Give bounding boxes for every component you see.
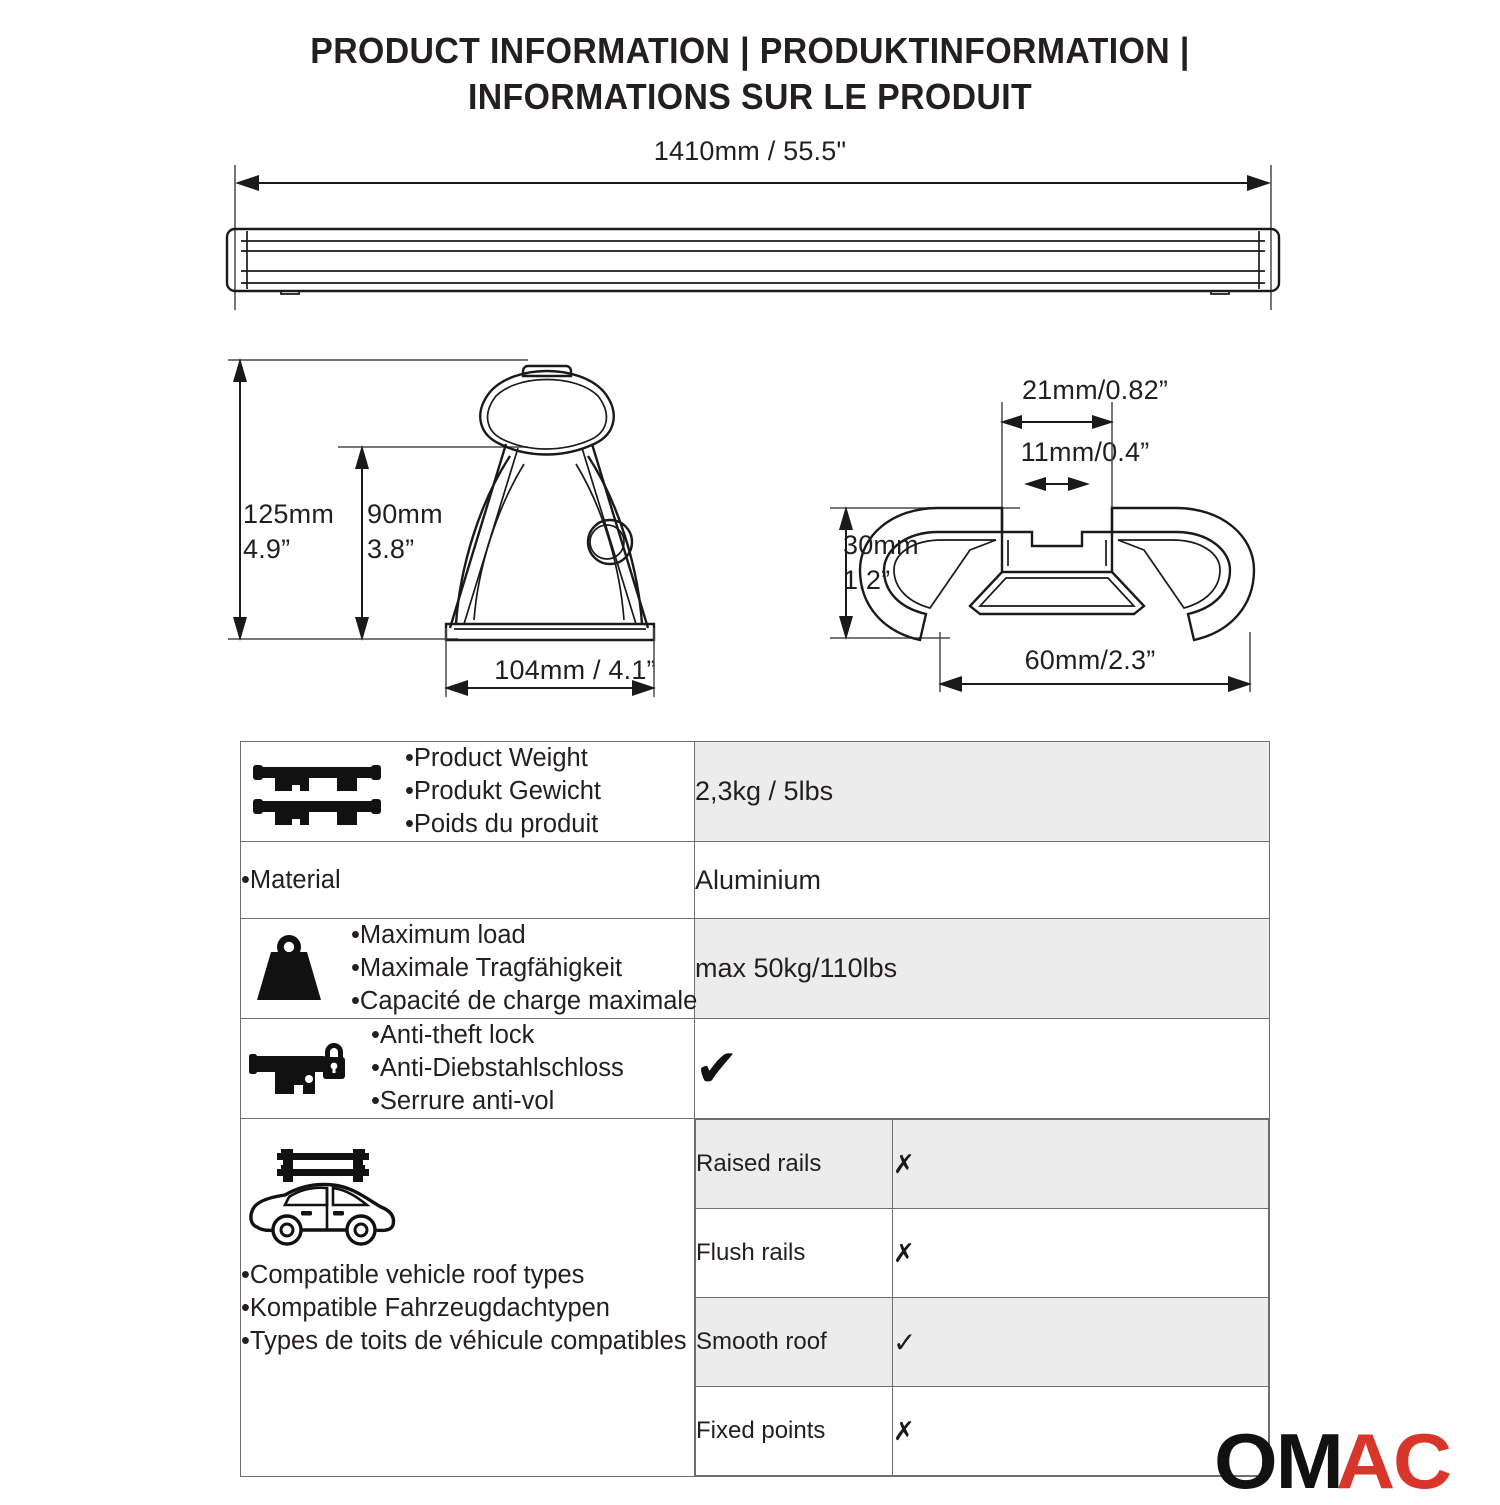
row-value-cell: ✔ — [695, 1019, 1270, 1119]
row-label-text: •Compatible vehicle roof types •Kompatib… — [241, 1259, 694, 1358]
label-line: •Capacité de charge maximale — [351, 985, 697, 1018]
page-title-line1: PRODUCT INFORMATION | PRODUKTINFORMATION… — [45, 28, 1455, 74]
table-row: •Material Aluminium — [241, 842, 1270, 919]
label-line: •Anti-theft lock — [371, 1019, 624, 1052]
table-row-roof-types: •Compatible vehicle roof types •Kompatib… — [241, 1119, 1270, 1477]
row-label-cell: •Maximum load •Maximale Tragfähigkeit •C… — [241, 919, 695, 1019]
top-view-length-text: 1410mm / 55.5" — [540, 136, 960, 167]
row-label-text: •Product Weight •Produkt Gewicht •Poids … — [405, 742, 601, 841]
roof-type-name: Smooth roof — [696, 1298, 893, 1387]
roof-type-row: Smooth roof ✓ — [696, 1298, 1269, 1387]
row-value-cell: 2,3kg / 5lbs — [695, 742, 1270, 842]
logo-text-black: OM — [1214, 1422, 1342, 1500]
table-row: •Maximum load •Maximale Tragfähigkeit •C… — [241, 919, 1270, 1019]
roof-type-name: Raised rails — [696, 1120, 893, 1209]
label-line: •Maximum load — [351, 919, 697, 952]
roof-type-row: Flush rails ✗ — [696, 1209, 1269, 1298]
row-value-cell: Aluminium — [695, 842, 1270, 919]
row-label-text: •Anti-theft lock •Anti-Diebstahlschloss … — [371, 1019, 624, 1118]
specification-table: •Product Weight •Produkt Gewicht •Poids … — [240, 741, 1270, 1477]
roof-type-mark: ✗ — [893, 1120, 1269, 1209]
label-line: •Serrure anti-vol — [371, 1085, 624, 1118]
top-view-drawing — [225, 165, 1285, 310]
table-row: •Product Weight •Produkt Gewicht •Poids … — [241, 742, 1270, 842]
label-line: •Types de toits de véhicule compatibles — [241, 1325, 694, 1358]
roof-bars-icon — [241, 759, 391, 825]
row-value-cell: max 50kg/110lbs — [695, 919, 1270, 1019]
roof-type-row: Raised rails ✗ — [696, 1120, 1269, 1209]
row-label-cell: •Product Weight •Produkt Gewicht •Poids … — [241, 742, 695, 842]
roof-types-table: Raised rails ✗ Flush rails ✗ Smooth roof… — [695, 1119, 1269, 1476]
roof-type-mark: ✗ — [893, 1387, 1269, 1476]
label-line: •Maximale Tragfähigkeit — [351, 952, 697, 985]
label-line: •Kompatible Fahrzeugdachtypen — [241, 1292, 694, 1325]
roof-type-row: Fixed points ✗ — [696, 1387, 1269, 1476]
row-label-cell: •Material — [241, 842, 695, 919]
logo-text-red: AC — [1336, 1422, 1450, 1500]
check-icon: ✓ — [893, 1327, 916, 1358]
cross-icon: ✗ — [893, 1416, 915, 1446]
row-label-cell: •Compatible vehicle roof types •Kompatib… — [241, 1119, 695, 1477]
roof-types-subtable-cell: Raised rails ✗ Flush rails ✗ Smooth roof… — [695, 1119, 1270, 1477]
row-label-cell: •Anti-theft lock •Anti-Diebstahlschloss … — [241, 1019, 695, 1119]
label-line: •Material — [241, 864, 341, 897]
table-row: •Anti-theft lock •Anti-Diebstahlschloss … — [241, 1019, 1270, 1119]
label-line: •Product Weight — [405, 742, 601, 775]
foot-cross-section-drawing — [228, 352, 708, 702]
omac-logo: OMAC — [1214, 1422, 1444, 1500]
bar-profile-drawing — [820, 400, 1300, 700]
label-line: •Poids du produit — [405, 808, 601, 841]
cross-icon: ✗ — [893, 1238, 915, 1268]
cross-icon: ✗ — [893, 1149, 915, 1179]
roof-type-name: Flush rails — [696, 1209, 893, 1298]
roof-type-mark: ✗ — [893, 1209, 1269, 1298]
roof-type-name: Fixed points — [696, 1387, 893, 1476]
label-line: •Produkt Gewicht — [405, 775, 601, 808]
checkmark-icon: ✔ — [695, 1040, 739, 1098]
lock-icon — [241, 1038, 357, 1100]
page-title: PRODUCT INFORMATION | PRODUKTINFORMATION… — [0, 28, 1500, 120]
roof-type-mark: ✓ — [893, 1298, 1269, 1387]
car-with-rack-icon — [241, 1147, 694, 1251]
page-title-line2: INFORMATIONS SUR LE PRODUIT — [45, 74, 1455, 120]
weight-icon — [241, 934, 337, 1004]
row-label-text: •Maximum load •Maximale Tragfähigkeit •C… — [351, 919, 697, 1018]
label-line: •Compatible vehicle roof types — [241, 1259, 694, 1292]
row-label-text: •Material — [241, 864, 341, 897]
label-line: •Anti-Diebstahlschloss — [371, 1052, 624, 1085]
